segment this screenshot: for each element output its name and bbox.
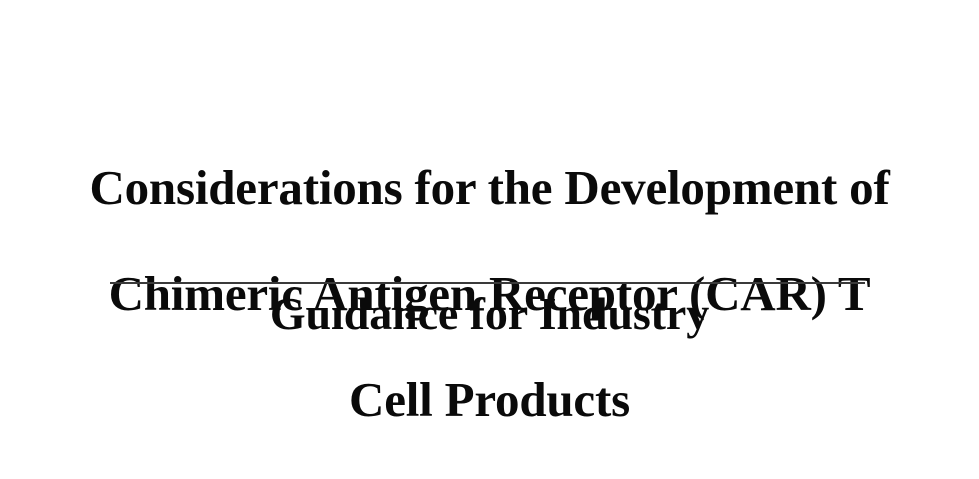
title-divider-rule: [110, 282, 865, 284]
document-subtitle: Guidance for Industry: [0, 288, 979, 340]
document-title-line-1: Considerations for the Development of: [0, 161, 979, 214]
document-title-line-3: Cell Products: [0, 373, 979, 426]
document-page: Considerations for the Development of Ch…: [0, 0, 979, 423]
